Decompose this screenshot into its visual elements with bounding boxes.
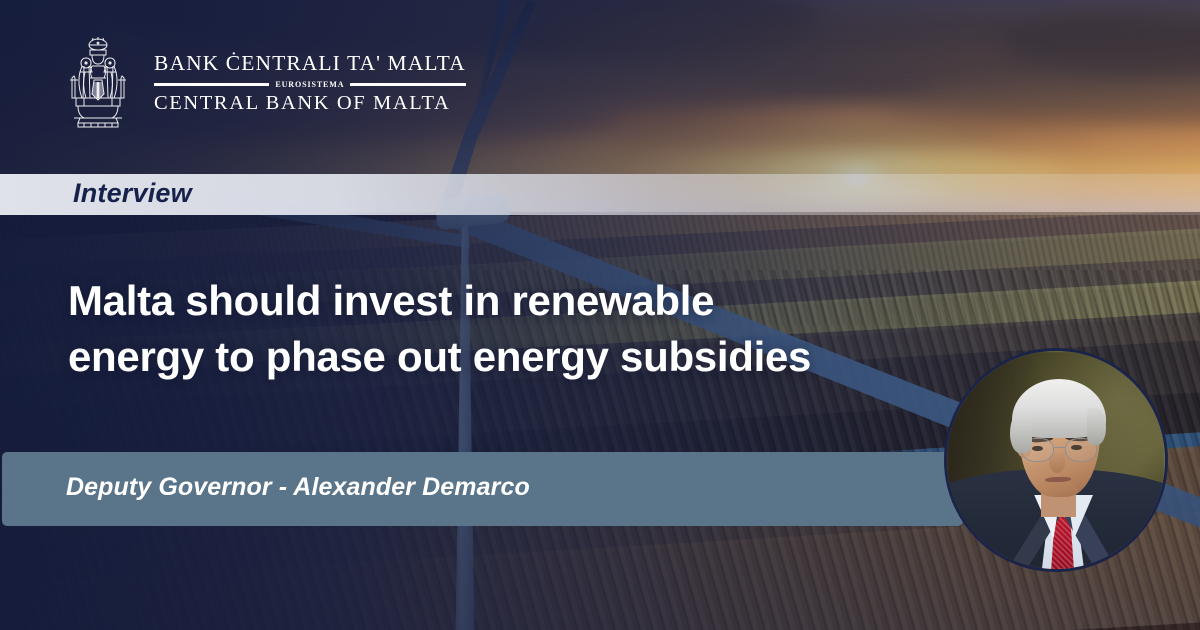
- headline-line-2: energy to phase out energy subsidies: [68, 329, 968, 385]
- headline-line-1: Malta should invest in renewable: [68, 273, 968, 329]
- kicker-label: Interview: [73, 178, 192, 209]
- logo-eurosystem-row: EUROSISTEMA: [154, 80, 466, 89]
- logo-rule-right: [350, 83, 465, 86]
- logo-line-english: CENTRAL BANK OF MALTA: [154, 92, 466, 115]
- logo-rule-left: [154, 83, 269, 86]
- page-title: Malta should invest in renewable energy …: [68, 273, 968, 385]
- malta-coat-of-arms-crest-icon: [56, 36, 140, 128]
- portrait-chin-shadow: [1039, 482, 1078, 502]
- subtitle-label: Deputy Governor - Alexander Demarco: [66, 473, 530, 502]
- avatar: [944, 348, 1168, 572]
- logo-wordmark: BANK ĊENTRALI TA' MALTA EUROSISTEMA CENT…: [154, 49, 466, 115]
- glasses-icon: [1021, 438, 1097, 462]
- glasses-bridge: [1054, 447, 1065, 449]
- social-banner: BANK ĊENTRALI TA' MALTA EUROSISTEMA CENT…: [0, 0, 1200, 630]
- portrait-hair-side-left: [1010, 410, 1032, 454]
- logo-line-maltese: BANK ĊENTRALI TA' MALTA: [154, 51, 466, 76]
- central-bank-of-malta-logo[interactable]: BANK ĊENTRALI TA' MALTA EUROSISTEMA CENT…: [56, 36, 466, 128]
- logo-eurosystem-label: EUROSISTEMA: [275, 80, 344, 89]
